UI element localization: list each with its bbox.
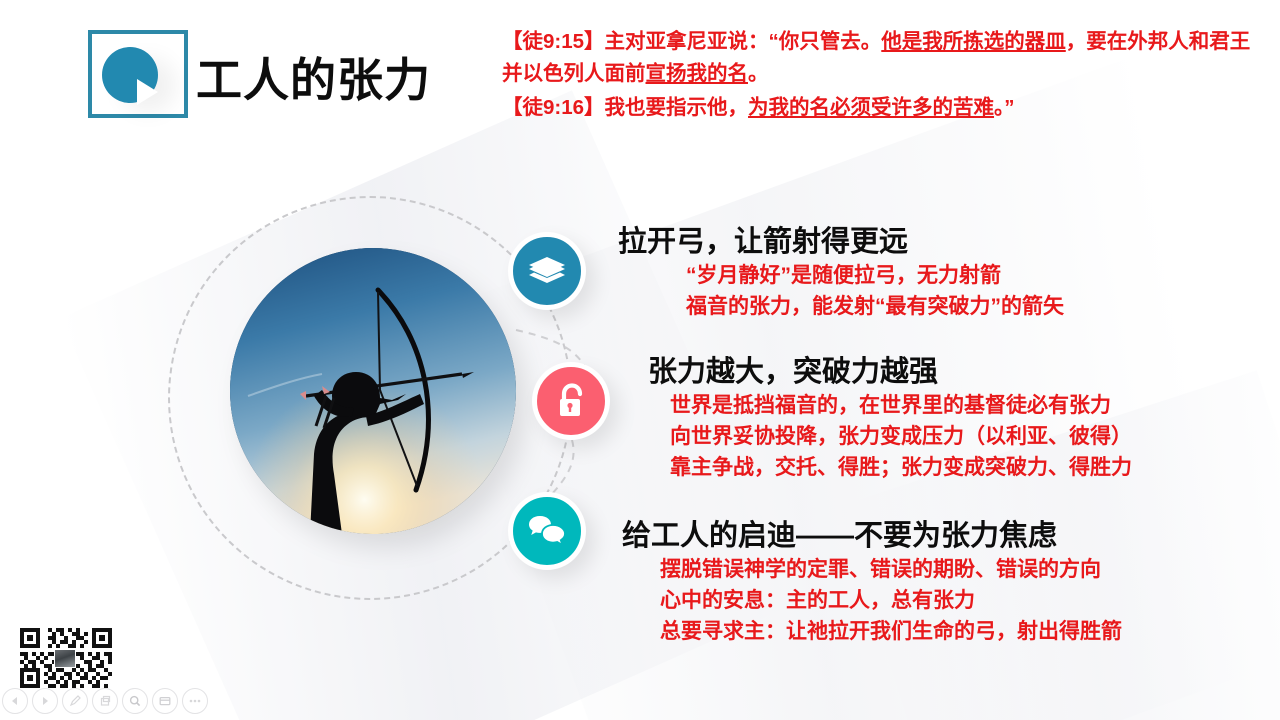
scripture-block: 【徒9:15】主对亚拿尼亚说：“你只管去。他是我所拣选的器皿，要在外邦人和君王并… — [502, 26, 1262, 126]
verse-2-underline: 为我的名必须受许多的苦难 — [748, 96, 994, 119]
more-options-icon[interactable] — [182, 688, 208, 714]
qr-center-photo — [54, 649, 76, 668]
unlock-icon — [555, 382, 587, 420]
verse-2-text-before: 我也要指示他， — [605, 96, 749, 119]
previous-arrow-icon[interactable] — [2, 688, 28, 714]
layers-icon — [528, 255, 566, 287]
verse-1-text-before: 主对亚拿尼亚说：“你只管去。 — [605, 30, 882, 53]
verse-1-underline-1: 他是我所拣选的器皿 — [881, 30, 1066, 53]
section-1-heading: 拉开弓，让箭射得更远 — [618, 224, 1064, 260]
section-1-line-1: “岁月静好”是随便拉弓，无力射箭 — [618, 260, 1064, 291]
section-1-line-2: 福音的张力，能发射“最有突破力”的箭矢 — [618, 291, 1064, 322]
section-2-line-1: 世界是抵挡福音的，在世界里的基督徒必有张力 — [648, 390, 1132, 421]
section-3: 给工人的启迪——不要为张力焦虑 摆脱错误神学的定罪、错误的期盼、错误的方向 心中… — [622, 518, 1122, 647]
archer-photo — [230, 248, 516, 534]
section-2: 张力越大，突破力越强 世界是抵挡福音的，在世界里的基督徒必有张力 向世界妥协投降… — [648, 354, 1132, 483]
section-2-heading: 张力越大，突破力越强 — [648, 354, 1132, 390]
section-1: 拉开弓，让箭射得更远 “岁月静好”是随便拉弓，无力射箭 福音的张力，能发射“最有… — [618, 224, 1064, 322]
verse-1-text-after: 。 — [748, 62, 769, 85]
qr-code — [16, 624, 122, 692]
page-title: 工人的张力 — [196, 44, 431, 110]
logo-badge — [88, 30, 192, 124]
section-2-line-2: 向世界妥协投降，张力变成压力（以利亚、彼得） — [648, 421, 1132, 452]
section-2-icon-badge[interactable] — [532, 362, 610, 440]
section-3-line-2: 心中的安息：主的工人，总有张力 — [622, 585, 1122, 616]
verse-1-reference: 【徒9:15】 — [502, 30, 605, 53]
pen-icon[interactable] — [62, 688, 88, 714]
scripture-verse-1: 【徒9:15】主对亚拿尼亚说：“你只管去。他是我所拣选的器皿，要在外邦人和君王并… — [502, 26, 1262, 90]
verse-2-reference: 【徒9:16】 — [502, 96, 605, 119]
verse-1-underline-2: 宣扬我的名 — [646, 62, 749, 85]
section-2-line-3: 靠主争战，交托、得胜；张力变成突破力、得胜力 — [648, 452, 1132, 483]
section-1-icon-badge[interactable] — [508, 232, 586, 310]
section-3-line-3: 总要寻求主：让祂拉开我们生命的弓，射出得胜箭 — [622, 616, 1122, 647]
stamp-icon[interactable] — [92, 688, 118, 714]
slide-canvas: 工人的张力 【徒9:15】主对亚拿尼亚说：“你只管去。他是我所拣选的器皿，要在外… — [0, 0, 1280, 720]
play-arrow-icon[interactable] — [32, 688, 58, 714]
section-3-line-1: 摆脱错误神学的定罪、错误的期盼、错误的方向 — [622, 554, 1122, 585]
play-triangle-icon — [137, 79, 158, 105]
play-circle-icon — [102, 47, 158, 103]
screen-icon[interactable] — [152, 688, 178, 714]
magnifier-icon[interactable] — [122, 688, 148, 714]
chat-bubbles-icon — [528, 514, 566, 548]
section-3-icon-badge[interactable] — [508, 492, 586, 570]
bottom-toolbar — [2, 688, 208, 714]
scripture-verse-2: 【徒9:16】我也要指示他，为我的名必须受许多的苦难。” — [502, 92, 1262, 124]
section-3-heading: 给工人的启迪——不要为张力焦虑 — [622, 518, 1122, 554]
verse-2-text-after: 。” — [994, 96, 1015, 119]
archer-photo-graphic — [230, 248, 516, 534]
